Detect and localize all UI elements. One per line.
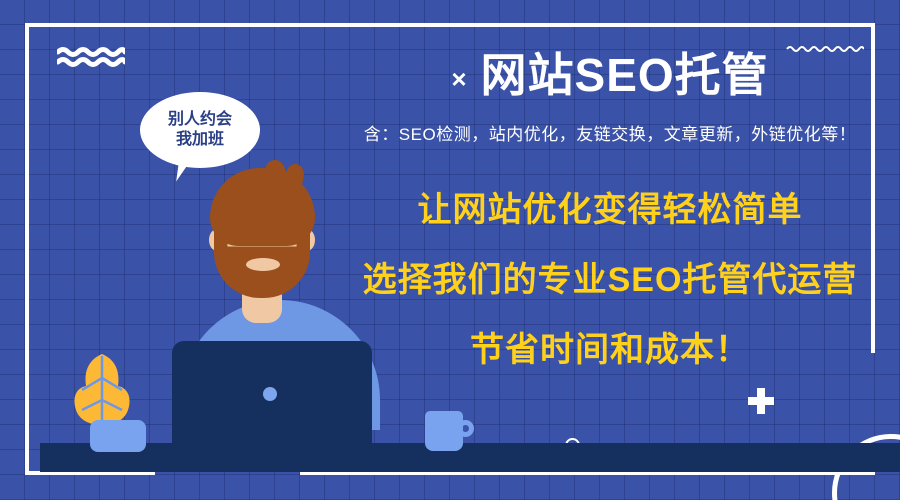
desk-surface	[40, 450, 900, 472]
plant-pot	[90, 420, 146, 452]
slogan-line-1: 让网站优化变得轻松简单	[330, 193, 890, 227]
subtitle: 含：SEO检测，站内优化，友链交换，文章更新，外链优化等！	[330, 120, 890, 145]
person-mouth	[246, 258, 280, 271]
slogan-line-2: 选择我们的专业SEO托管代运营	[330, 263, 890, 297]
wave-double-icon	[57, 47, 125, 67]
speech-bubble: 别人约会 我加班	[140, 92, 260, 168]
speech-bubble-line-2: 我加班	[176, 130, 224, 150]
plus-icon	[748, 388, 774, 414]
circle-logo-icon	[263, 387, 277, 401]
x-mark-icon: ×	[451, 66, 466, 92]
slogan-line-3: 节省时间和成本！	[330, 333, 890, 367]
page-title: 网站SEO托管	[481, 52, 769, 98]
speech-bubble-line-1: 别人约会	[168, 110, 232, 130]
coffee-mug-icon	[425, 411, 463, 451]
slogan-block: 让网站优化变得轻松简单 选择我们的专业SEO托管代运营 节省时间和成本！	[330, 193, 890, 367]
headline-block: × 网站SEO托管 含：SEO检测，站内优化，友链交换，文章更新，外链优化等！	[330, 44, 890, 145]
title-row: × 网站SEO托管	[330, 44, 890, 106]
seo-promo-banner: × 网站SEO托管 含：SEO检测，站内优化，友链交换，文章更新，外链优化等！ …	[0, 0, 900, 500]
